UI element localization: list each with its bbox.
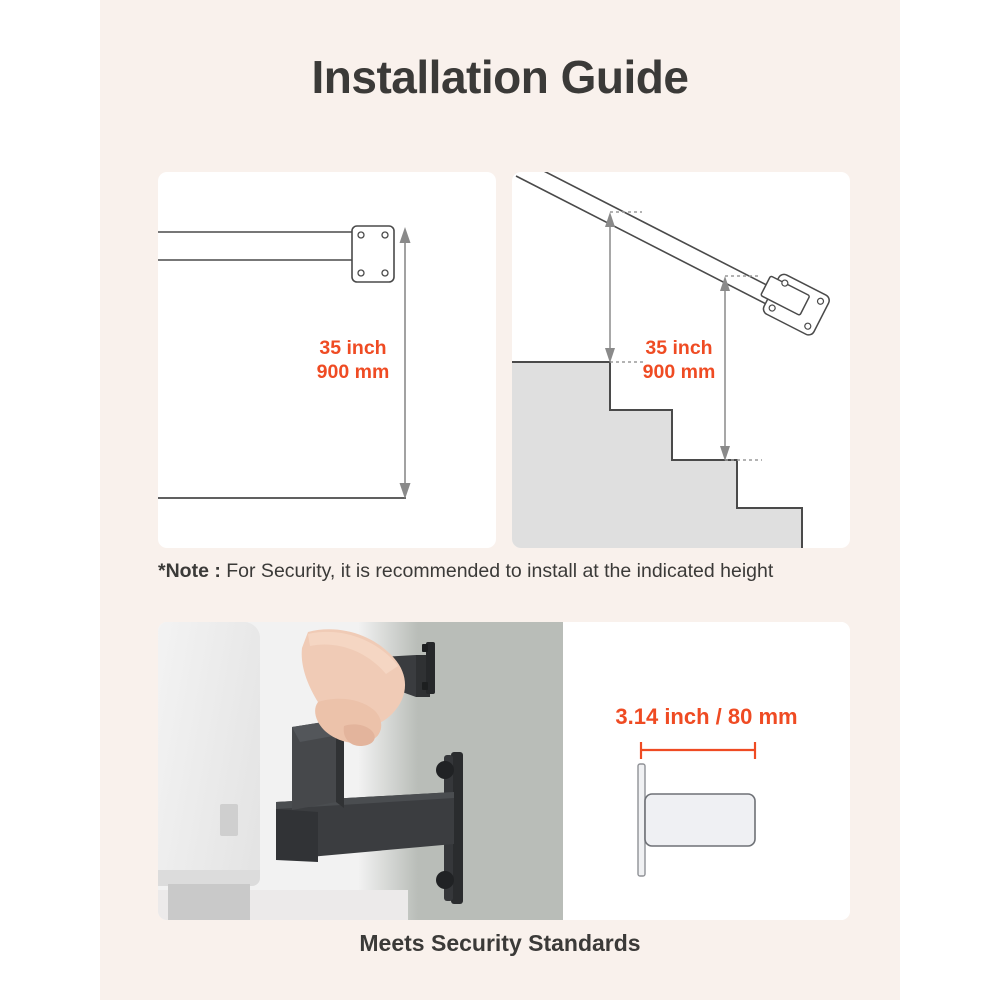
page-title: Installation Guide <box>100 50 900 104</box>
bottom-caption: Meets Security Standards <box>100 930 900 957</box>
arrow-head-down <box>400 483 411 499</box>
note-label: *Note : <box>158 560 221 582</box>
installation-guide-page: Installation Guide <box>0 0 1000 1000</box>
photo-handrail-and-hand <box>158 622 563 920</box>
stair-height-dimension-label: 35 inch 900 mm <box>624 336 734 384</box>
dimension-line <box>641 742 755 759</box>
dimension-inch: 35 inch <box>298 336 408 360</box>
dimension-mm: 900 mm <box>298 360 408 384</box>
handrail-profile-angled <box>516 172 794 308</box>
dimension-mm: 900 mm <box>624 360 734 384</box>
note-line: *Note : For Security, it is recommended … <box>158 560 850 583</box>
rail-projection <box>645 794 755 846</box>
note-text: For Security, it is recommended to insta… <box>226 560 773 582</box>
arrow-head-up <box>400 227 411 243</box>
panel-product-photo-and-clearance: 3.14 inch / 80 mm <box>158 622 850 920</box>
wall-mount-plate <box>352 226 394 282</box>
dimension-inch: 35 inch <box>624 336 734 360</box>
wall-mount-plate-angled <box>754 269 831 337</box>
stair-height-arrow-1 <box>605 212 615 363</box>
clearance-drawing <box>563 622 850 920</box>
staircase-fill <box>512 362 802 548</box>
handrail-photo <box>158 622 563 920</box>
handrail-profile <box>158 232 354 260</box>
panel-stair-handrail: 35 inch 900 mm <box>512 172 850 548</box>
wall-plate-bar <box>638 764 645 876</box>
height-dimension-label: 35 inch 900 mm <box>298 336 408 384</box>
panel-straight-handrail: 35 inch 900 mm <box>158 172 496 548</box>
clearance-diagram: 3.14 inch / 80 mm <box>563 622 850 920</box>
